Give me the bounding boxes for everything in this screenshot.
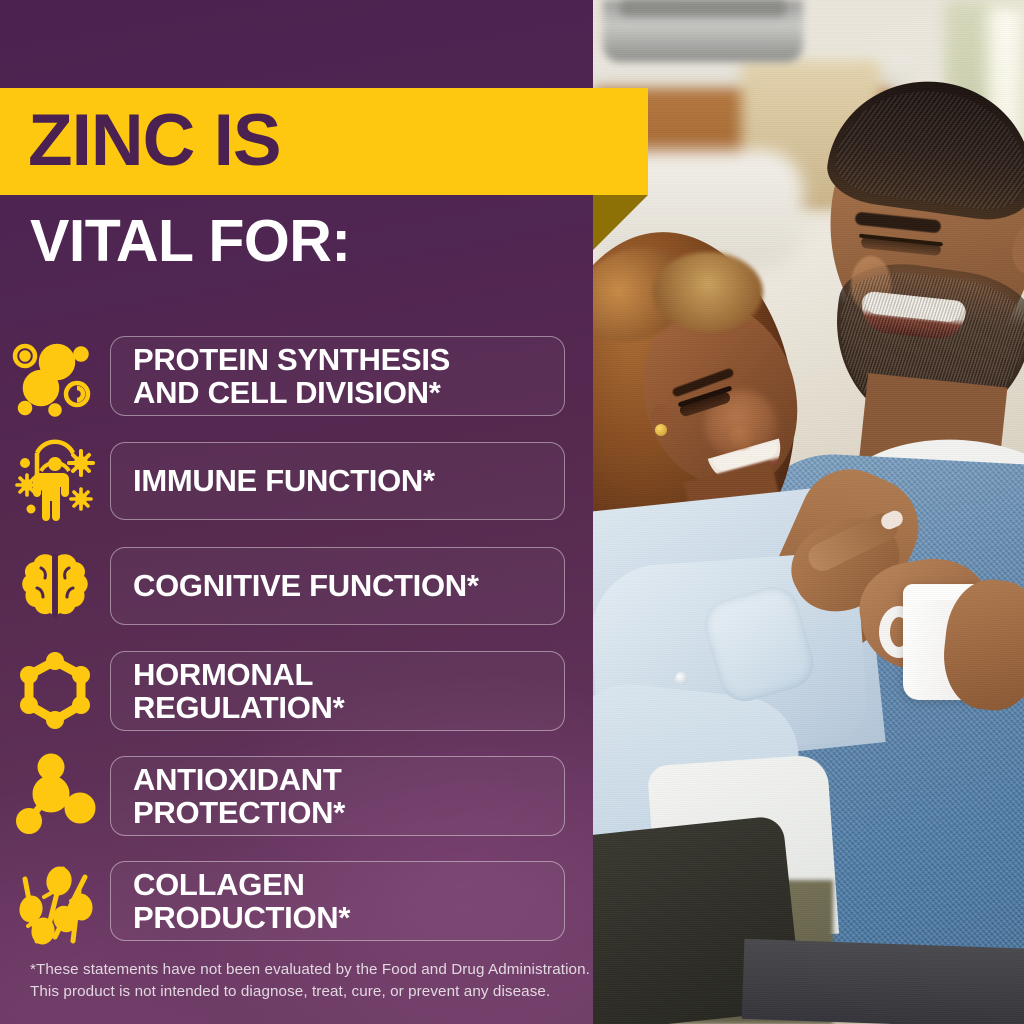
benefit-label: HORMONALREGULATION* [133,658,344,725]
cell-division-icon [0,330,110,422]
benefit-label: IMMUNE FUNCTION* [133,464,435,497]
hormone-hexagon-icon [0,645,110,737]
benefit-pill: IMMUNE FUNCTION* [110,442,565,520]
collagen-fiber-icon [0,855,110,947]
fda-disclaimer: *These statements have not been evaluate… [30,959,575,1003]
subtitle: VITAL FOR: [30,212,351,271]
headline-banner: ZINC IS [0,88,648,195]
benefit-pill: COGNITIVE FUNCTION* [110,547,565,625]
list-item: COLLAGENPRODUCTION* [0,851,593,951]
antioxidant-molecule-icon [0,750,110,842]
infographic-canvas: ZINC IS VITAL FOR: [0,0,1024,1024]
list-item: HORMONALREGULATION* [0,641,593,741]
benefit-list: PROTEIN SYNTHESISAND CELL DIVISION* [0,326,593,956]
benefit-pill: ANTIOXIDANTPROTECTION* [110,756,565,837]
list-item: IMMUNE FUNCTION* [0,431,593,531]
benefit-pill: HORMONALREGULATION* [110,651,565,732]
lifestyle-photo [593,0,1024,1024]
disclaimer-line-2: This product is not intended to diagnose… [30,981,575,1003]
benefit-label: COGNITIVE FUNCTION* [133,569,479,602]
brain-icon [0,540,110,632]
immune-person-icon [0,435,110,527]
banner-fold-shadow [593,195,648,250]
benefit-pill: PROTEIN SYNTHESISAND CELL DIVISION* [110,336,565,417]
benefit-label: PROTEIN SYNTHESISAND CELL DIVISION* [133,343,450,410]
benefit-pill: COLLAGENPRODUCTION* [110,861,565,942]
list-item: ANTIOXIDANTPROTECTION* [0,746,593,846]
benefit-label: COLLAGENPRODUCTION* [133,868,350,935]
benefit-label: ANTIOXIDANTPROTECTION* [133,763,345,830]
list-item: COGNITIVE FUNCTION* [0,536,593,636]
photo-grain-overlay [593,0,1024,1024]
list-item: PROTEIN SYNTHESISAND CELL DIVISION* [0,326,593,426]
disclaimer-line-1: *These statements have not been evaluate… [30,959,575,981]
page-title: ZINC IS [28,104,281,177]
